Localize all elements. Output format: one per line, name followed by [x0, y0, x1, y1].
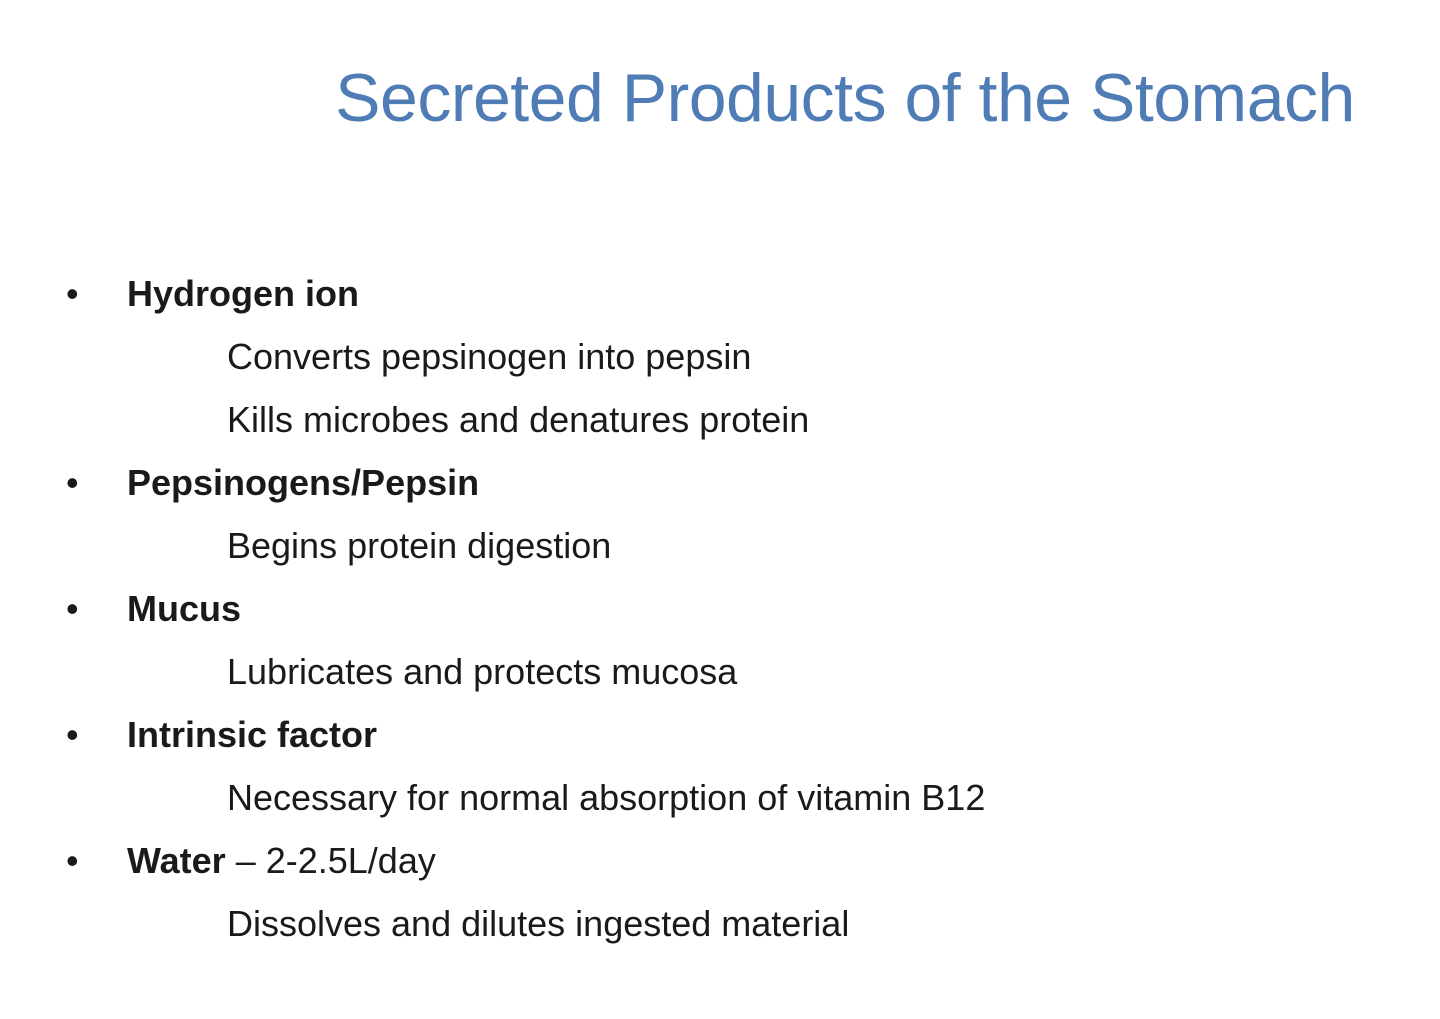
slide: Secreted Products of the Stomach • Hydro…: [0, 0, 1440, 1019]
sub-item-label: Converts pepsinogen into pepsin: [227, 335, 751, 379]
list-item: • Water – 2-2.5L/day: [0, 839, 1440, 902]
list-item-term: Water: [127, 840, 226, 881]
sub-item: Necessary for normal absorption of vitam…: [0, 776, 1440, 839]
sub-item: Lubricates and protects mucosa: [0, 650, 1440, 713]
list-item-term: Pepsinogens/Pepsin: [127, 462, 479, 503]
sub-item-label: Begins protein digestion: [227, 524, 611, 568]
sub-item-label: Dissolves and dilutes ingested material: [227, 902, 849, 946]
bulleted-content-list: • Hydrogen ion Converts pepsinogen into …: [0, 272, 1440, 965]
list-item-term: Intrinsic factor: [127, 714, 377, 755]
list-item: • Hydrogen ion: [0, 272, 1440, 335]
page-title: Secreted Products of the Stomach: [0, 60, 1440, 136]
sub-item-label: Necessary for normal absorption of vitam…: [227, 776, 985, 820]
sub-item-label: Lubricates and protects mucosa: [227, 650, 737, 694]
list-item-label: Hydrogen ion: [127, 272, 359, 316]
sub-item: Dissolves and dilutes ingested material: [0, 902, 1440, 965]
list-item: • Mucus: [0, 587, 1440, 650]
list-item-term: Mucus: [127, 588, 241, 629]
list-item-label: Intrinsic factor: [127, 713, 377, 757]
list-item-label: Mucus: [127, 587, 241, 631]
list-item-label: Water – 2-2.5L/day: [127, 839, 436, 883]
list-item: • Pepsinogens/Pepsin: [0, 461, 1440, 524]
bullet-icon: •: [66, 272, 84, 316]
sub-item-label: Kills microbes and denatures protein: [227, 398, 809, 442]
list-item-label: Pepsinogens/Pepsin: [127, 461, 479, 505]
bullet-icon: •: [66, 713, 84, 757]
list-item-detail: – 2-2.5L/day: [226, 840, 436, 881]
bullet-icon: •: [66, 461, 84, 505]
sub-item: Begins protein digestion: [0, 524, 1440, 587]
bullet-icon: •: [66, 587, 84, 631]
bullet-icon: •: [66, 839, 84, 883]
list-item-term: Hydrogen ion: [127, 273, 359, 314]
list-item: • Intrinsic factor: [0, 713, 1440, 776]
sub-item: Kills microbes and denatures protein: [0, 398, 1440, 461]
sub-item: Converts pepsinogen into pepsin: [0, 335, 1440, 398]
